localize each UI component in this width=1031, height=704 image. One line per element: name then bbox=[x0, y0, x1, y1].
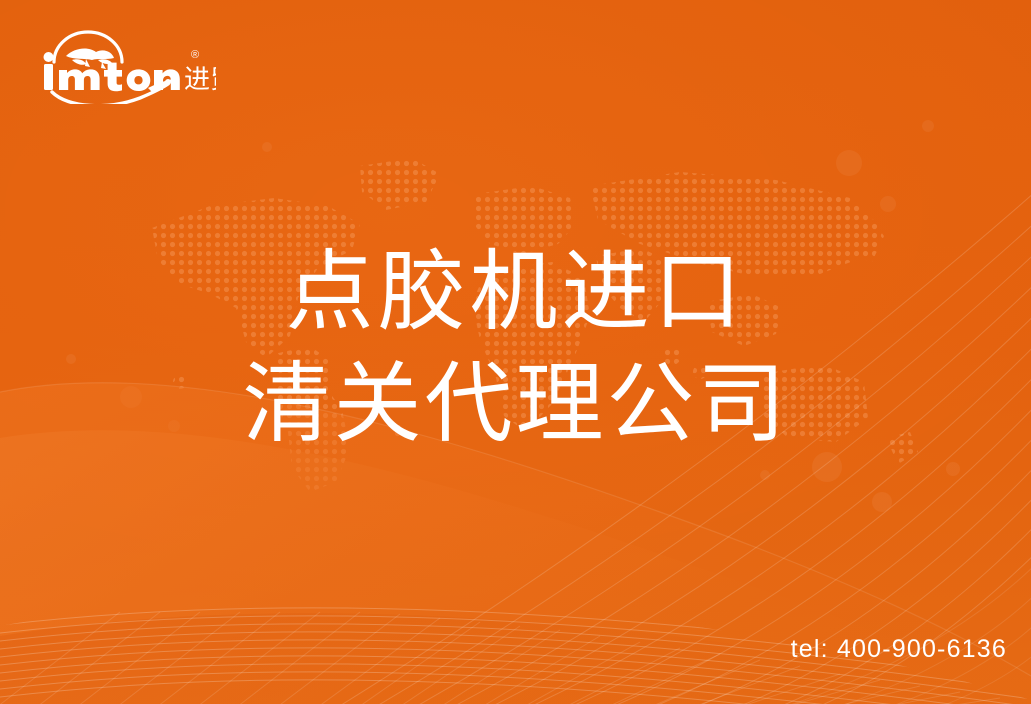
headline-line-2: 清关代理公司 bbox=[0, 348, 1031, 460]
imton-logo[interactable]: 进贸通 ® bbox=[36, 26, 216, 104]
headline-line-1: 点胶机进口 bbox=[0, 236, 1031, 348]
page-title: 点胶机进口 清关代理公司 bbox=[0, 236, 1031, 460]
svg-text:进贸通: 进贸通 bbox=[184, 65, 216, 95]
registered-trademark-icon: ® bbox=[191, 50, 199, 61]
poster-canvas: 进贸通 ® 点胶机进口 清关代理公司 tel: 400-900-6136 bbox=[0, 0, 1031, 704]
contact-phone[interactable]: tel: 400-900-6136 bbox=[791, 635, 1007, 664]
logo-chinese-name: 进贸通 bbox=[184, 65, 216, 95]
